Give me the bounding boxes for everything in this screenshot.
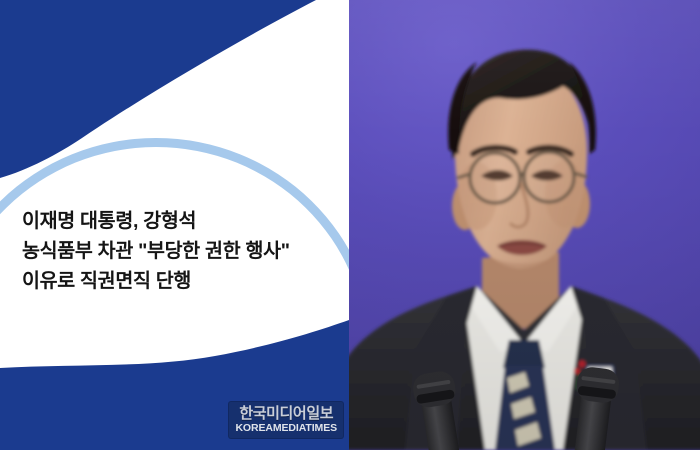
headline-text: 이재명 대통령, 강형석 농식품부 차관 "부당한 권한 행사" 이유로 직권면…	[22, 206, 340, 296]
photo-vignette	[349, 0, 700, 450]
news-card-panel: 이재명 대통령, 강형석 농식품부 차관 "부당한 권한 행사" 이유로 직권면…	[0, 0, 349, 450]
watermark-logo-korean: 한국미디어일보	[235, 405, 337, 422]
news-thumbnail-composite: 이재명 대통령, 강형석 농식품부 차관 "부당한 권한 행사" 이유로 직권면…	[0, 0, 700, 450]
navy-wedge-decoration	[0, 0, 340, 190]
photo-panel	[349, 0, 700, 450]
watermark-logo: 한국미디어일보 KOREAMEDIATIMES	[229, 402, 343, 438]
watermark-logo-english: KOREAMEDIATIMES	[235, 422, 337, 434]
